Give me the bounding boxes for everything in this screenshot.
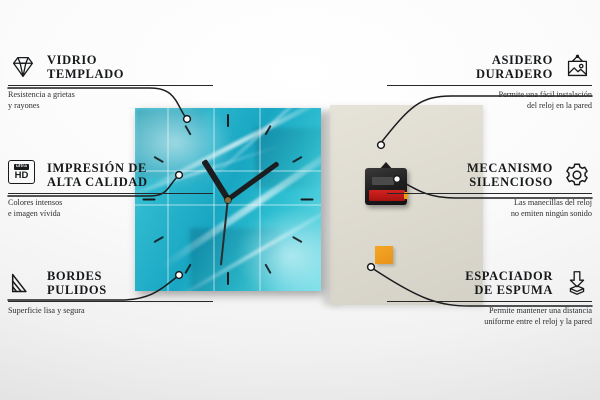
divider [8,85,213,86]
framed-picture-icon [562,52,592,82]
divider [387,193,592,194]
feature-title: ASIDERODURADERO [387,53,553,82]
divider [8,301,213,302]
divider [387,301,592,302]
polished-edges-icon [8,268,38,298]
feature-description: Superficie lisa y segura [8,306,213,317]
gear-icon [562,160,592,190]
infographic-canvas: VIDRIOTEMPLADO Resistencia a grietasy ra… [0,0,600,400]
ultra-hd-icon: ultra HD [8,160,38,190]
feature-espaciador-de-espuma[interactable]: ESPACIADORDE ESPUMA Permite mantener una… [387,268,592,327]
feature-title: ESPACIADORDE ESPUMA [387,269,553,298]
feature-vidrio-templado[interactable]: VIDRIOTEMPLADO Resistencia a grietasy ra… [8,52,213,111]
feature-description: Colores intensose imagen vívida [8,198,213,219]
feature-mecanismo-silencioso[interactable]: MECANISMOSILENCIOSO Las manecillas del r… [387,160,592,219]
foam-spacer-sample [375,246,393,264]
divider [8,193,213,194]
feature-impresion-alta-calidad[interactable]: ultra HD IMPRESIÓN DEALTA CALIDAD Colore… [8,160,213,219]
feature-description: Resistencia a grietasy rayones [8,90,213,111]
feature-title: IMPRESIÓN DEALTA CALIDAD [47,161,213,190]
clock-center-hub [225,197,231,203]
feature-title: VIDRIOTEMPLADO [47,53,213,82]
feature-description: Las manecillas del relojno emiten ningún… [387,198,592,219]
feature-description: Permite una fácil instalacióndel reloj e… [387,90,592,111]
feature-description: Permite mantener una distanciauniforme e… [387,306,592,327]
feature-title: BORDESPULIDOS [47,269,213,298]
feature-bordes-pulidos[interactable]: BORDESPULIDOS Superficie lisa y segura [8,268,213,317]
foam-spacer-icon [562,268,592,298]
feature-asidero-duradero[interactable]: ASIDERODURADERO Permite una fácil instal… [387,52,592,111]
divider [387,85,592,86]
ultra-hd-badge-small: ultra [14,164,30,170]
diamond-icon [8,52,38,82]
feature-title: MECANISMOSILENCIOSO [387,161,553,190]
ultra-hd-badge-main: HD [15,171,29,181]
